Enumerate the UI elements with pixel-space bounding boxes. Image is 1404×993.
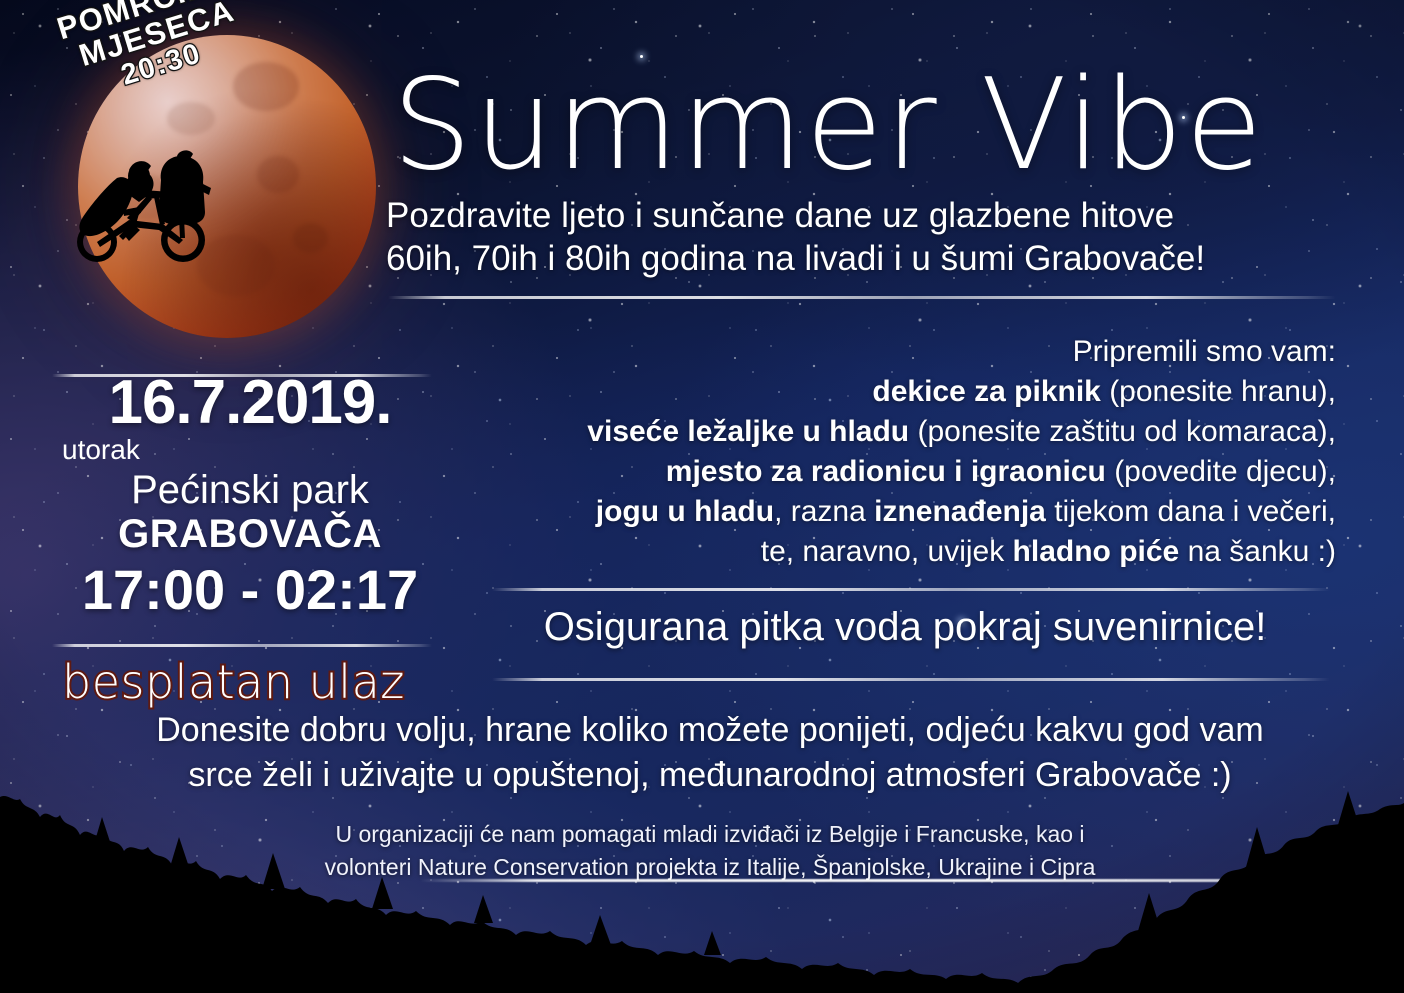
offer-item-bold: mjesto za radionicu i igraonicu — [666, 455, 1106, 488]
offer-item-rest: (ponesite hranu), — [1101, 375, 1336, 408]
offer-item: mjesto za radionicu i igraonicu (povedit… — [430, 452, 1336, 492]
offer-item: dekice za piknik (ponesite hranu), — [430, 372, 1336, 412]
offer-item-bold: dekice za piknik — [872, 375, 1100, 408]
et-bicycle-silhouette-icon — [55, 150, 255, 285]
offer-list: Pripremili smo vam: dekice za piknik (po… — [430, 332, 1336, 572]
free-entry-label: besplatan ulaz — [62, 655, 405, 709]
offer-item-rest: , razna — [774, 495, 874, 528]
event-venue-primary: Pećinski park — [50, 468, 450, 512]
event-time: 17:00 - 02:17 — [50, 559, 450, 621]
event-weekday: utorak — [50, 436, 450, 464]
event-venue-secondary: GRABOVAČA — [50, 512, 450, 557]
water-note: Osigurana pitka voda pokraj suvenirnice! — [470, 605, 1340, 649]
subtitle-line-1: Pozdravite ljeto i sunčane dane uz glazb… — [386, 196, 1174, 235]
page-title: Summer Vibe — [392, 62, 1265, 188]
offer-item-rest: te, naravno, uvijek — [761, 535, 1013, 568]
offer-intro: Pripremili smo vam: — [430, 332, 1336, 372]
offer-item: viseće ležaljke u hladu (ponesite zaštit… — [430, 412, 1336, 452]
offer-item: te, naravno, uvijek hladno piće na šanku… — [430, 532, 1336, 572]
offer-item-rest: na šanku :) — [1179, 535, 1336, 568]
offer-item-bold: viseće ležaljke u hladu — [587, 415, 909, 448]
offer-item-rest: (povedite djecu), — [1106, 455, 1336, 488]
divider-below-time — [52, 644, 432, 647]
divider-under-subtitle — [388, 296, 1336, 299]
poster-subtitle: Pozdravite ljeto i sunčane dane uz glazb… — [386, 194, 1336, 281]
divider-below-water-note — [492, 678, 1330, 681]
offer-item-bold: jogu u hladu — [596, 495, 774, 528]
event-date: 16.7.2019. — [50, 372, 450, 434]
poster-canvas: POMRČINA MJESECA 20:30 Summer Vibe Pozdr… — [0, 0, 1404, 993]
offer-item-rest: (ponesite zaštitu od komaraca), — [909, 415, 1336, 448]
offer-item: jogu u hladu, razna iznenađenja tijekom … — [430, 492, 1336, 532]
forest-silhouette — [0, 763, 1404, 993]
bring-line-1: Donesite dobru volju, hrane koliko možet… — [156, 711, 1264, 749]
event-details-column: 16.7.2019. utorak Pećinski park GRABOVAČ… — [50, 372, 450, 620]
offer-item-rest: tijekom dana i večeri, — [1046, 495, 1336, 528]
offer-item-bold: iznenađenja — [874, 495, 1046, 528]
divider-above-water-note — [492, 588, 1330, 591]
offer-item-bold: hladno piće — [1013, 535, 1180, 568]
subtitle-line-2: 60ih, 70ih i 80ih godina na livadi i u š… — [386, 239, 1205, 278]
